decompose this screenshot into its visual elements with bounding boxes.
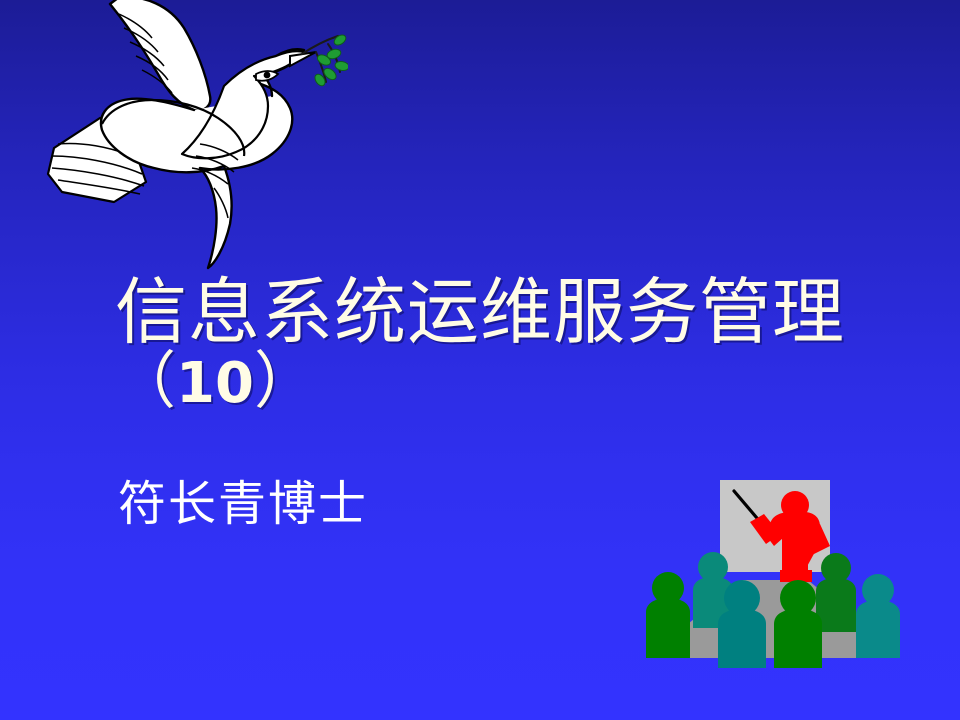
presentation-slide: 信息系统运维服务管理 （10） 符长青博士 bbox=[0, 0, 960, 720]
slide-subtitle: 符长青博士 bbox=[118, 476, 618, 532]
title-line-main: 信息系统运维服务管理 bbox=[0, 272, 960, 352]
presenter-head bbox=[781, 491, 809, 519]
title-line-number: （10） bbox=[0, 348, 960, 417]
classroom-presentation-icon bbox=[604, 462, 924, 684]
olive-branch-icon bbox=[302, 33, 348, 88]
title-close-paren: ） bbox=[254, 344, 316, 417]
slide-title: 信息系统运维服务管理 （10） bbox=[0, 272, 960, 417]
presenter-name: 符长青博士 bbox=[118, 476, 618, 532]
title-open-paren: （ bbox=[114, 344, 176, 417]
title-number: 10 bbox=[176, 351, 254, 416]
peace-dove-with-olive-branch-icon bbox=[18, 0, 348, 286]
